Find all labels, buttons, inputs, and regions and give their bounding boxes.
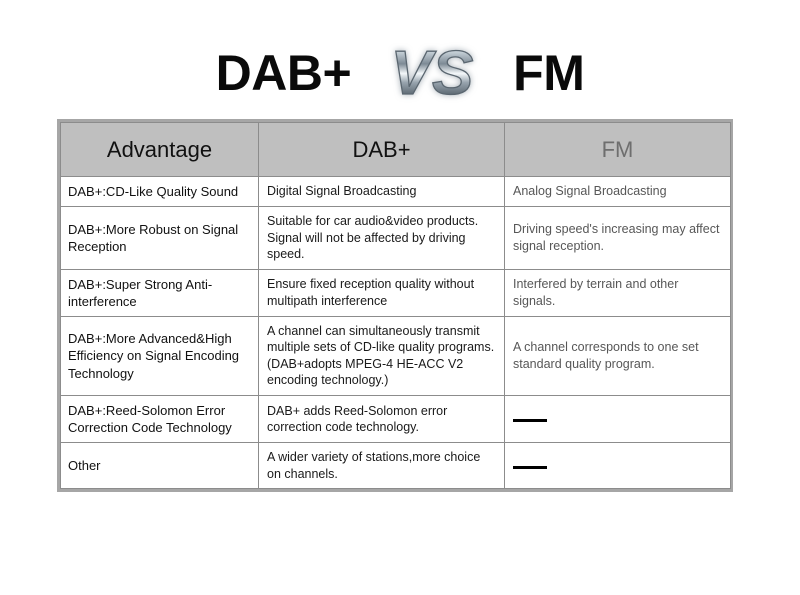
table-row: DAB+:More Advanced&High Efficiency on Si… <box>61 316 731 395</box>
table-row: DAB+:Reed-Solomon Error Correction Code … <box>61 395 731 442</box>
cell-advantage: DAB+:Reed-Solomon Error Correction Code … <box>61 395 259 442</box>
em-dash-placeholder <box>513 419 547 422</box>
column-header-advantage: Advantage <box>61 123 259 177</box>
cell-advantage: DAB+:More Advanced&High Efficiency on Si… <box>61 316 259 395</box>
cell-dab: Suitable for car audio&video products. S… <box>259 207 505 270</box>
column-header-dab: DAB+ <box>259 123 505 177</box>
cell-fm: Driving speed's increasing may affect si… <box>505 207 731 270</box>
page-title: DAB+ <box>0 34 800 112</box>
table-row: Other A wider variety of stations,more c… <box>61 443 731 489</box>
vs-chrome-logo: VS <box>369 34 495 112</box>
cell-dab: A channel can simultaneously transmit mu… <box>259 316 505 395</box>
cell-dab: A wider variety of stations,more choice … <box>259 443 505 489</box>
comparison-table: Advantage DAB+ FM DAB+:CD-Like Quality S… <box>57 119 733 492</box>
cell-fm: Analog Signal Broadcasting <box>505 177 731 207</box>
cell-fm: A channel corresponds to one set standar… <box>505 316 731 395</box>
title-word-dab: DAB+ <box>216 48 352 98</box>
cell-dab: DAB+ adds Reed-Solomon error correction … <box>259 395 505 442</box>
cell-fm-empty <box>505 443 731 489</box>
table-row: DAB+:CD-Like Quality Sound Digital Signa… <box>61 177 731 207</box>
column-header-fm: FM <box>505 123 731 177</box>
cell-advantage: DAB+:More Robust on Signal Reception <box>61 207 259 270</box>
cell-dab: Digital Signal Broadcasting <box>259 177 505 207</box>
cell-advantage: DAB+:CD-Like Quality Sound <box>61 177 259 207</box>
cell-dab: Ensure fixed reception quality without m… <box>259 269 505 316</box>
table-row: DAB+:Super Strong Anti-interference Ensu… <box>61 269 731 316</box>
em-dash-placeholder <box>513 466 547 469</box>
cell-advantage: DAB+:Super Strong Anti-interference <box>61 269 259 316</box>
cell-advantage: Other <box>61 443 259 489</box>
cell-fm: Interfered by terrain and other signals. <box>505 269 731 316</box>
table-header-row: Advantage DAB+ FM <box>61 123 731 177</box>
svg-text:VS: VS <box>391 39 474 108</box>
title-word-fm: FM <box>513 48 584 98</box>
cell-fm-empty <box>505 395 731 442</box>
table-row: DAB+:More Robust on Signal Reception Sui… <box>61 207 731 270</box>
